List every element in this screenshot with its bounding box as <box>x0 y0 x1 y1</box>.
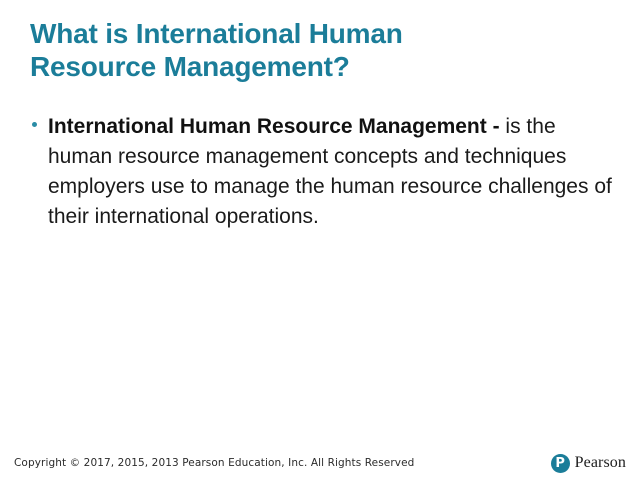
list-item-lead: International Human Resource Management … <box>48 115 500 138</box>
list-item-text: International Human Resource Management … <box>48 112 616 232</box>
pearson-circle-p-icon: P <box>551 454 570 473</box>
copyright-notice: Copyright © 2017, 2015, 2013 Pearson Edu… <box>14 457 414 469</box>
body-content: International Human Resource Management … <box>26 112 616 232</box>
bullet-dot-icon <box>32 122 37 127</box>
page-title: What is International Human Resource Man… <box>30 17 550 83</box>
slide-canvas: What is International Human Resource Man… <box>0 0 640 480</box>
bullet-marker <box>26 112 48 127</box>
pearson-wordmark: Pearson <box>575 454 626 472</box>
list-item: International Human Resource Management … <box>26 112 616 232</box>
page-title-line-2: Resource Management? <box>30 50 550 83</box>
page-title-line-1: What is International Human <box>30 17 550 50</box>
slide-footer: Copyright © 2017, 2015, 2013 Pearson Edu… <box>0 448 640 480</box>
pearson-logo: P Pearson <box>551 451 626 475</box>
